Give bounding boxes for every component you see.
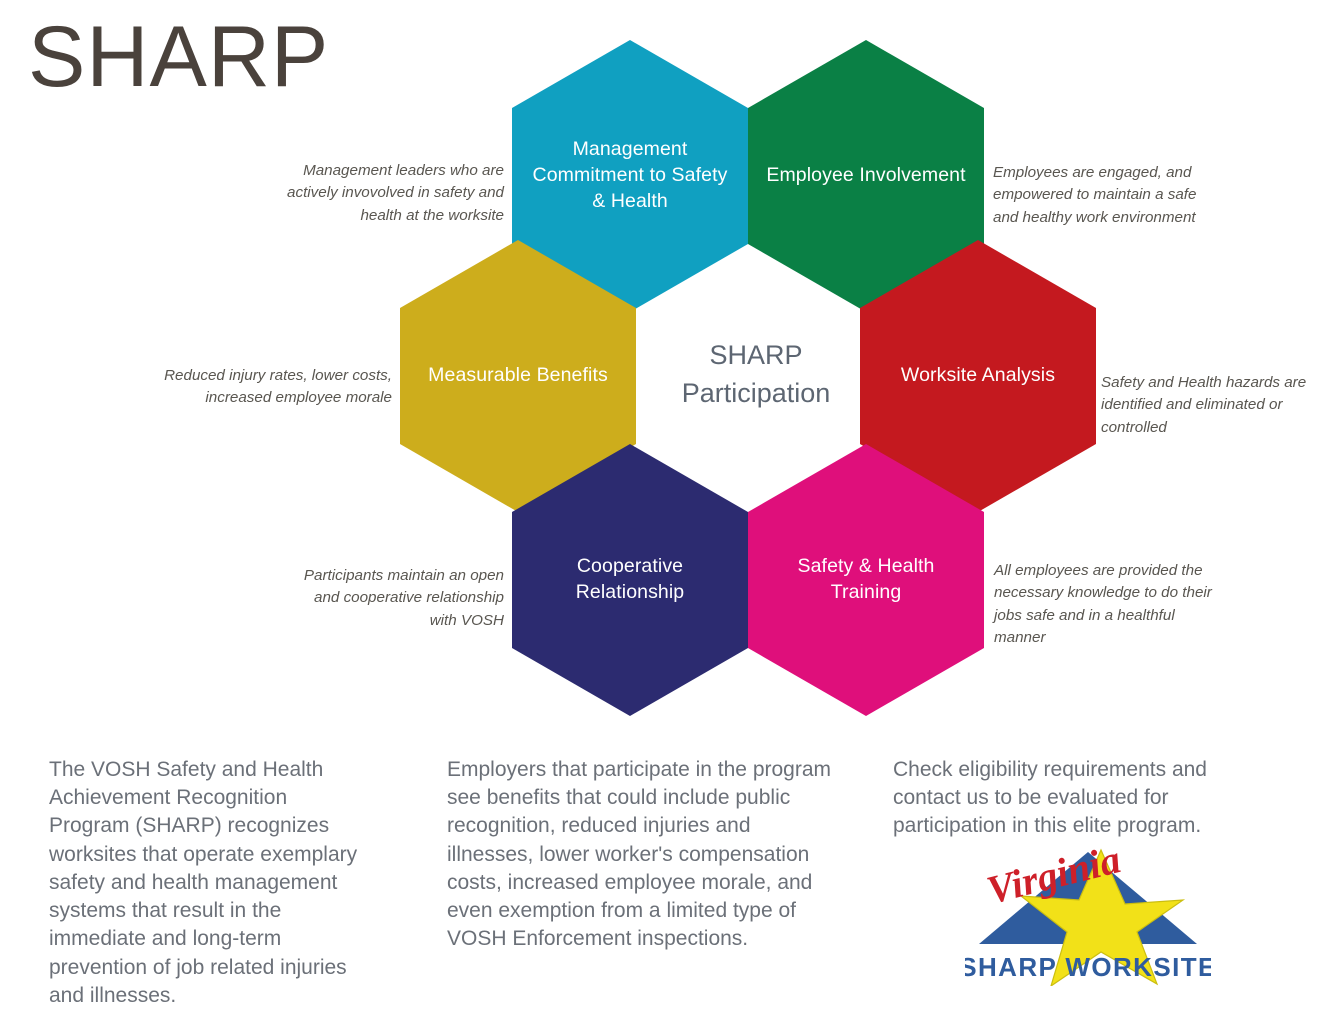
annotation-worksite-analysis: Safety and Health hazards are identified… — [1101, 372, 1311, 439]
annotation-safety-health-training: All employees are provided the necessary… — [994, 560, 1212, 649]
center-label-line1: SHARP — [636, 336, 876, 374]
hexagon-label-management-commitment: Management Commitment to Safety & Health — [512, 137, 748, 214]
hexagon-label-employee-involvement: Employee Involvement — [748, 163, 983, 189]
annotation-measurable-benefits: Reduced injury rates, lower costs, incre… — [158, 365, 392, 410]
annotation-cooperative-relationship: Participants maintain an open and cooper… — [300, 565, 504, 632]
hexagon-cluster: Management Commitment to Safety & Health… — [0, 0, 1332, 720]
annotation-management-commitment: Management leaders who are actively invo… — [278, 160, 504, 227]
annotation-employee-involvement: Employees are engaged, and empowered to … — [993, 162, 1223, 229]
hexagon-label-measurable-benefits: Measurable Benefits — [410, 363, 626, 389]
hexagon-label-safety-health-training: Safety & Health Training — [748, 554, 984, 605]
bottom-paragraph-benefits: Employers that participate in the progra… — [447, 756, 839, 954]
hexagon-label-cooperative-relationship: Cooperative Relationship — [512, 554, 748, 605]
virginia-sharp-worksite-logo: Virginia SHARP WORKSITE — [965, 838, 1211, 986]
logo-wordmark: SHARP WORKSITE — [965, 952, 1211, 982]
center-label: SHARP Participation — [636, 336, 876, 413]
hexagon-label-worksite-analysis: Worksite Analysis — [883, 363, 1073, 389]
center-label-line2: Participation — [636, 374, 876, 412]
bottom-paragraph-eligibility: Check eligibility requirements and conta… — [893, 756, 1275, 841]
bottom-paragraph-program-description: The VOSH Safety and Health Achievement R… — [49, 756, 371, 1010]
